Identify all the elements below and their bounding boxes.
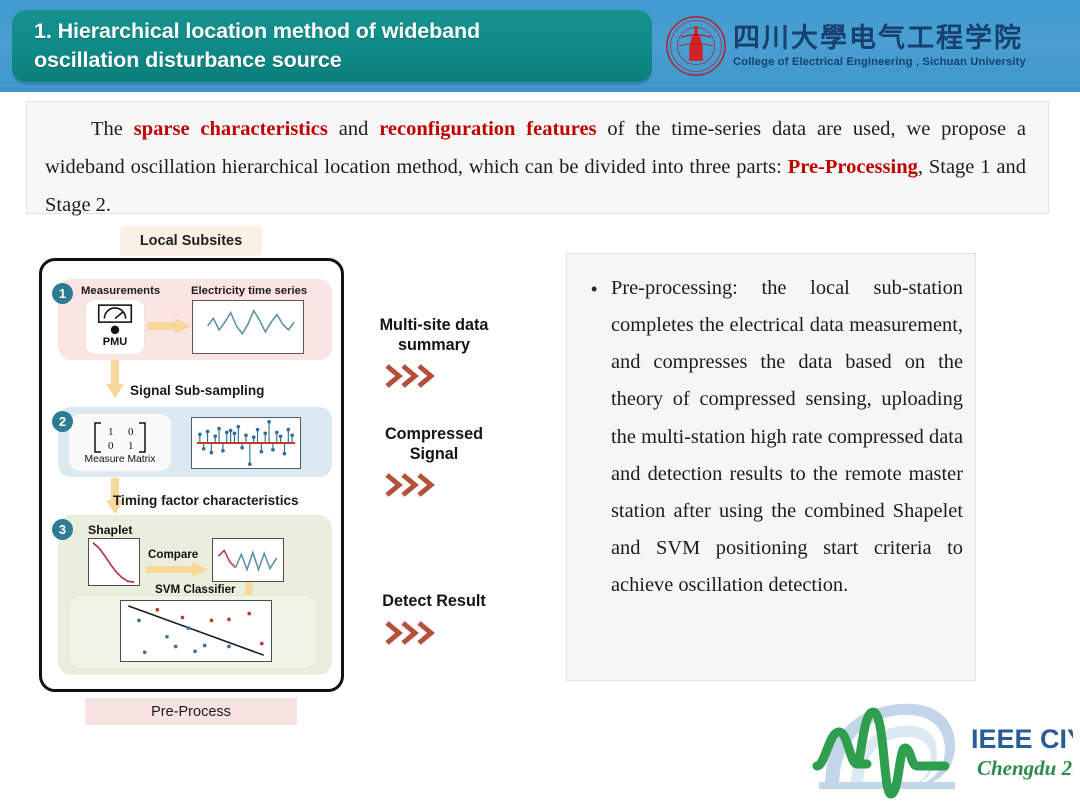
triple-chevron-right-icon (383, 363, 441, 389)
middle-label-compressed: Compressed Signal (349, 425, 519, 465)
electricity-time-series-label: Electricity time series (191, 285, 307, 297)
measure-matrix-box: 1 0 0 1 Measure Matrix (69, 414, 171, 471)
compressed-stem-plot (191, 417, 301, 469)
compare-waveform-chart (213, 539, 283, 581)
compare-plot (212, 538, 284, 582)
university-logo: 四川大學电气工程学院 College of Electrical Enginee… (665, 8, 1070, 84)
sichuan-university-seal-icon (665, 15, 727, 77)
intro-part-1: The (91, 118, 134, 140)
intro-highlight-reconfiguration: reconfiguration features (379, 118, 596, 140)
shaplet-plot (88, 538, 140, 586)
arrow-compare-icon (146, 562, 208, 577)
svm-scatter-chart (121, 601, 271, 661)
pmu-device-box: PMU (86, 300, 144, 354)
connector-label-subsampling: Signal Sub-sampling (130, 383, 264, 398)
university-logo-text: 四川大學电气工程学院 College of Electrical Enginee… (733, 24, 1026, 68)
stage-3-number: 3 (52, 519, 73, 540)
stage-1-number: 1 (52, 283, 73, 304)
identity-matrix-icon: 1 0 0 1 (89, 421, 151, 454)
pmu-label: PMU (103, 336, 127, 348)
ieee-ciycee-subtitle: Chengdu 2023 (977, 756, 1073, 780)
triple-chevron-right-icon (383, 620, 441, 646)
middle-label-multisite: Multi-site data summary (349, 316, 519, 356)
compare-label: Compare (148, 548, 198, 561)
bullet-icon: • (591, 280, 597, 298)
svg-text:1: 1 (128, 440, 134, 452)
shaplet-curve-chart (89, 539, 139, 585)
middle-label-detect-result: Detect Result (349, 592, 519, 612)
connector-label-timing: Timing factor characteristics (113, 493, 299, 508)
university-name-chinese: 四川大學电气工程学院 (733, 24, 1026, 53)
shaplet-label: Shaplet (88, 523, 132, 537)
gauge-meter-icon (95, 303, 135, 337)
intro-paragraph-box: The sparse characteristics and reconfigu… (26, 101, 1049, 214)
pre-process-banner: Pre-Process (85, 698, 297, 725)
stage-2-number: 2 (52, 411, 73, 432)
local-subsites-banner: Local Subsites (120, 226, 262, 256)
ieee-ciycee-title: IEEE CIYCEE (971, 724, 1073, 754)
description-text: Pre-processing: the local sub-station co… (611, 270, 963, 604)
ieee-ciycee-logo: IEEE CIYCEE Chengdu 2023 (795, 690, 1073, 802)
triple-chevron-right-icon (383, 472, 441, 498)
measure-matrix-label: Measure Matrix (85, 454, 156, 465)
intro-paragraph: The sparse characteristics and reconfigu… (27, 102, 1048, 225)
slide-title-plate: 1. Hierarchical location method of wideb… (12, 10, 652, 82)
intro-highlight-preprocessing: Pre-Processing (788, 156, 918, 178)
time-series-line-chart (193, 301, 303, 353)
intro-part-2: and (328, 118, 379, 140)
svg-text:0: 0 (128, 426, 134, 438)
stage-1-title: Measurements (81, 285, 160, 297)
page-title: 1. Hierarchical location method of wideb… (12, 17, 498, 74)
svg-text:1: 1 (108, 426, 114, 438)
university-name-english: College of Electrical Engineering , Sich… (733, 56, 1026, 68)
svm-scatter-plot (120, 600, 272, 662)
intro-highlight-sparse: sparse characteristics (134, 118, 328, 140)
arrow-pmu-to-plot-icon (147, 318, 191, 334)
electricity-time-series-plot (192, 300, 304, 354)
stem-chart (192, 418, 300, 468)
description-panel: • Pre-processing: the local sub-station … (566, 253, 976, 681)
svg-text:0: 0 (108, 440, 114, 452)
arrow-stage1-to-stage2-icon (106, 360, 124, 398)
